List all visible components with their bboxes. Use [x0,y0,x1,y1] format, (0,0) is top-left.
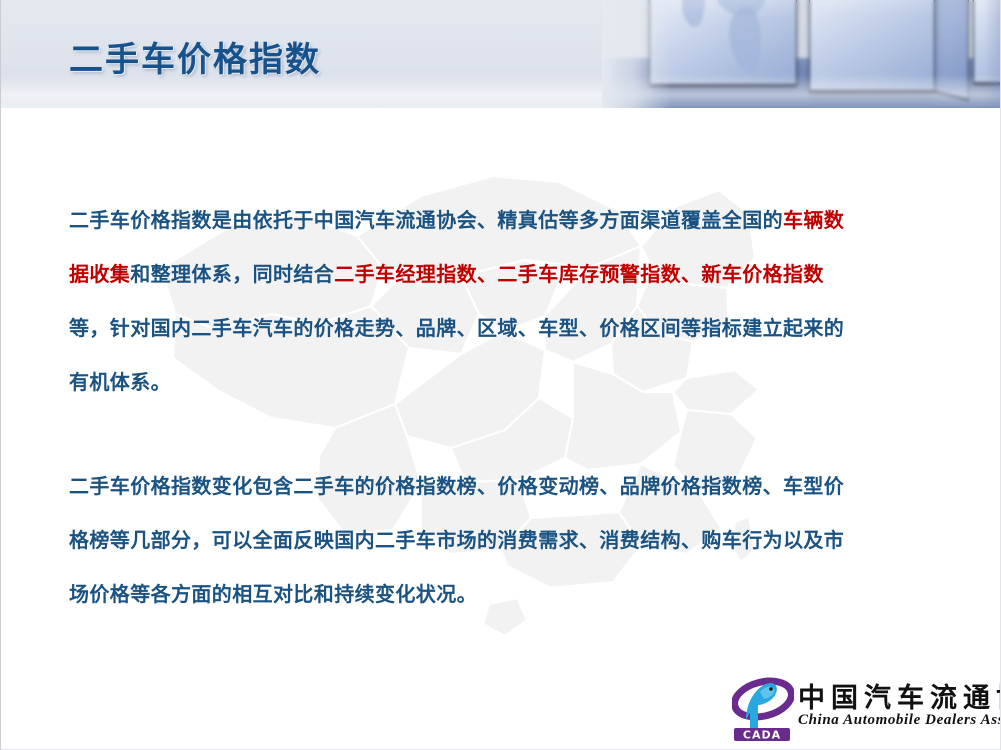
cube-right-fade [984,0,1001,108]
cada-logo: CADA 中国汽车流通协会 China Automobile Dealers A… [732,662,990,744]
slide-canvas: 二手车价格指数 [0,0,1001,750]
composition-line-1: 二手车价格指数变化包含二手车的价格指数榜、价格变动榜、品牌价格指数榜、车型价 [69,460,949,514]
highlighted-term: 据收集 [69,264,130,286]
highlighted-term: 车辆数 [783,210,844,232]
composition-line-3: 场价格等各方面的相互对比和持续变化状况。 [69,568,949,622]
highlighted-term: 二手车经理指数、二手车库存预警指数、新车价格指数 [334,264,824,286]
text-run: 二手车价格指数是由依托于中国汽车流通协会、精真估等多方面渠道覆盖全国的 [69,210,783,232]
cube-gloss [810,0,934,14]
svg-text:CADA: CADA [743,729,781,742]
header-cube-graphic [602,0,1001,108]
text-run: 场价格等各方面的相互对比和持续变化状况。 [69,584,477,606]
slide-header: 二手车价格指数 [1,0,1001,108]
text-run: 和整理体系，同时结合 [130,264,334,286]
cube-center [810,0,934,90]
cube-center-side-face [934,0,968,98]
cube-center-front-face [810,0,934,90]
definition-line-3: 等，针对国内二手车汽车的价格走势、品牌、区域、车型、价格区间等指标建立起来的 [69,302,949,356]
text-run: 二手车价格指数变化包含二手车的价格指数榜、价格变动榜、品牌价格指数榜、车型价 [69,476,844,498]
cube-left-fade [602,0,672,108]
text-run: 有机体系。 [69,372,171,394]
text-run: 格榜等几部分，可以全面反映国内二手车市场的消费需求、消费结构、购车行为以及市 [69,530,844,552]
logo-name-en: China Automobile Dealers Association [798,712,1001,729]
page-title: 二手车价格指数 [69,32,321,81]
definition-line-4: 有机体系。 [69,356,949,410]
slide-body: 二手车价格指数是由依托于中国汽车流通协会、精真估等多方面渠道覆盖全国的车辆数据收… [1,108,1001,750]
definition-line-1: 二手车价格指数是由依托于中国汽车流通协会、精真估等多方面渠道覆盖全国的车辆数 [69,194,949,248]
cada-emblem-icon: CADA [732,672,794,742]
text-run: 等，针对国内二手车汽车的价格走势、品牌、区域、车型、价格区间等指标建立起来的 [69,318,844,340]
logo-name-cn: 中国汽车流通协会 [798,676,1001,715]
paragraph-definition: 二手车价格指数是由依托于中国汽车流通协会、精真估等多方面渠道覆盖全国的车辆数据收… [69,194,949,410]
definition-line-2: 据收集和整理体系，同时结合二手车经理指数、二手车库存预警指数、新车价格指数 [69,248,949,302]
paragraph-composition: 二手车价格指数变化包含二手车的价格指数榜、价格变动榜、品牌价格指数榜、车型价格榜… [69,460,949,622]
composition-line-2: 格榜等几部分，可以全面反映国内二手车市场的消费需求、消费结构、购车行为以及市 [69,514,949,568]
